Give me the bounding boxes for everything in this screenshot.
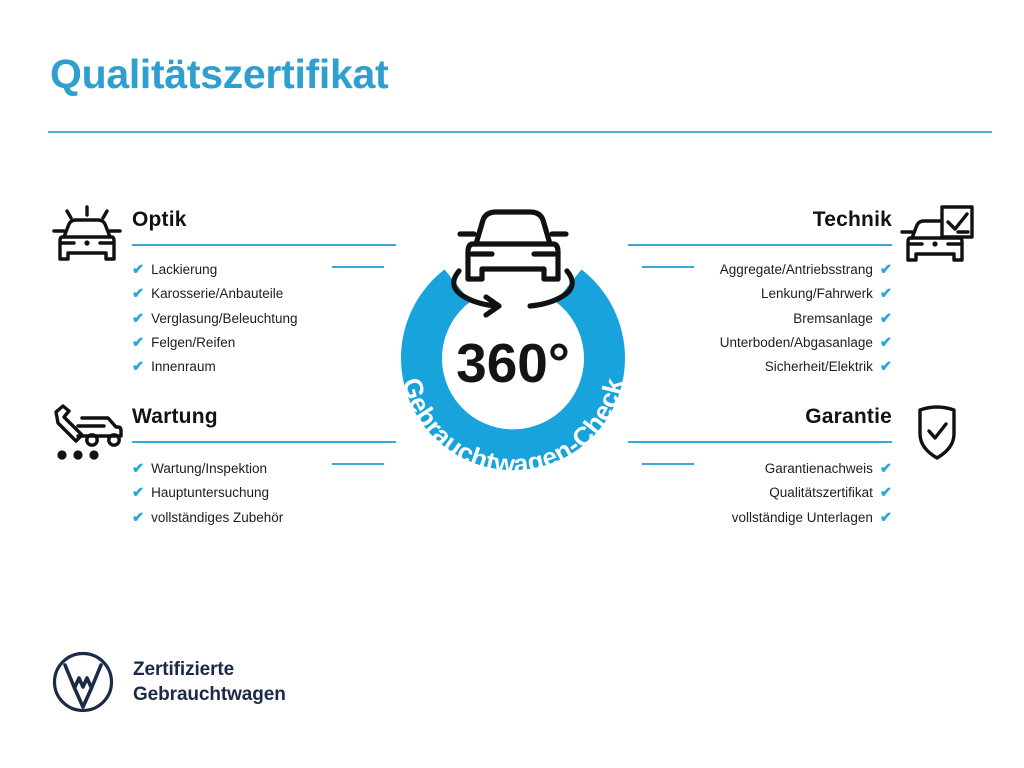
section-garantie: Garantie Garantienachweis✔ Qualitätszert… [628, 402, 976, 530]
check-icon: ✔ [132, 359, 144, 375]
check-icon: ✔ [880, 359, 892, 375]
list-item-label: Innenraum [151, 359, 216, 374]
list-item-label: vollständige Unterlagen [732, 510, 873, 525]
list-item: ✔Lackierung [132, 258, 396, 282]
check-icon: ✔ [880, 510, 892, 526]
section-optik: Optik ✔Lackierung ✔Karosserie/Anbauteile… [48, 205, 396, 379]
connector-line-bottom-left [332, 463, 384, 465]
footer-brand: Zertifizierte Gebrauchtwagen [52, 651, 286, 713]
list-item-label: Sicherheit/Elektrik [765, 359, 873, 374]
check-icon: ✔ [132, 461, 144, 477]
car-rotate-icon [454, 212, 573, 315]
vw-logo-icon [52, 651, 114, 713]
list-item: Aggregate/Antriebsstrang✔ [628, 258, 892, 282]
list-item: ✔vollständiges Zubehör [132, 506, 396, 530]
list-item-label: Qualitätszertifikat [769, 485, 873, 500]
check-icon: ✔ [132, 485, 144, 501]
section-wartung-list: ✔Wartung/Inspektion ✔Hauptuntersuchung ✔… [48, 457, 396, 530]
list-item-label: vollständiges Zubehör [151, 510, 283, 525]
connector-line-top-left [332, 266, 384, 268]
list-item: ✔Karosserie/Anbauteile [132, 282, 396, 306]
list-item: Unterboden/Abgasanlage✔ [628, 331, 892, 355]
page-title: Qualitätszertifikat [50, 52, 388, 97]
list-item-label: Karosserie/Anbauteile [151, 286, 283, 301]
list-item-label: Wartung/Inspektion [151, 461, 267, 476]
section-garantie-list: Garantienachweis✔ Qualitätszertifikat✔ v… [628, 457, 976, 530]
check-icon: ✔ [132, 510, 144, 526]
section-technik-list: Aggregate/Antriebsstrang✔ Lenkung/Fahrwe… [628, 258, 976, 379]
check-icon: ✔ [132, 262, 144, 278]
check-icon: ✔ [880, 461, 892, 477]
footer-line-2: Gebrauchtwagen [133, 682, 286, 707]
section-optik-header: Optik [48, 205, 396, 253]
connector-line-top-right [642, 266, 694, 268]
section-technik: Technik Aggregate/Antriebsstrang✔ Lenkun… [628, 205, 976, 379]
section-wartung-header: Wartung [48, 402, 396, 450]
list-item: ✔Hauptuntersuchung [132, 481, 396, 505]
list-item-label: Lackierung [151, 262, 217, 277]
car-service-tool-icon [48, 402, 126, 464]
list-item: Sicherheit/Elektrik✔ [628, 355, 892, 379]
list-item: ✔Felgen/Reifen [132, 331, 396, 355]
list-item-label: Bremsanlage [793, 311, 873, 326]
car-checkbox-icon [898, 205, 976, 267]
section-wartung-divider [132, 441, 396, 443]
check-icon: ✔ [880, 262, 892, 278]
check-icon: ✔ [880, 485, 892, 501]
title-divider [48, 131, 992, 133]
footer-line-1: Zertifizierte [133, 657, 286, 682]
check-icon: ✔ [132, 335, 144, 351]
list-item: Qualitätszertifikat✔ [628, 481, 892, 505]
footer-brand-text: Zertifizierte Gebrauchtwagen [133, 657, 286, 707]
list-item: ✔Wartung/Inspektion [132, 457, 396, 481]
check-icon: ✔ [132, 311, 144, 327]
list-item: vollständige Unterlagen✔ [628, 506, 892, 530]
check-icon: ✔ [880, 311, 892, 327]
list-item-label: Verglasung/Beleuchtung [151, 311, 297, 326]
section-optik-list: ✔Lackierung ✔Karosserie/Anbauteile ✔Verg… [48, 258, 396, 379]
connector-line-bottom-right [642, 463, 694, 465]
section-wartung: Wartung ✔Wartung/Inspektion ✔Hauptunters… [48, 402, 396, 530]
badge-center-text: 360° [456, 332, 570, 394]
car-shine-icon [48, 205, 126, 267]
list-item: ✔Innenraum [132, 355, 396, 379]
list-item: Bremsanlage✔ [628, 307, 892, 331]
list-item-label: Unterboden/Abgasanlage [720, 335, 873, 350]
list-item: Garantienachweis✔ [628, 457, 892, 481]
list-item: ✔Verglasung/Beleuchtung [132, 307, 396, 331]
section-technik-header: Technik [628, 205, 976, 253]
list-item-label: Aggregate/Antriebsstrang [720, 262, 873, 277]
check-icon: ✔ [880, 335, 892, 351]
section-technik-divider [628, 244, 892, 246]
check-icon: ✔ [880, 286, 892, 302]
section-garantie-header: Garantie [628, 402, 976, 450]
list-item-label: Felgen/Reifen [151, 335, 235, 350]
list-item-label: Garantienachweis [765, 461, 873, 476]
list-item: Lenkung/Fahrwerk✔ [628, 282, 892, 306]
section-optik-divider [132, 244, 396, 246]
gebrauchtwagen-check-badge: Gebrauchtwagen-Check 360° [378, 196, 648, 496]
list-item-label: Hauptuntersuchung [151, 485, 269, 500]
list-item-label: Lenkung/Fahrwerk [761, 286, 873, 301]
section-garantie-divider [628, 441, 892, 443]
shield-check-icon [898, 402, 976, 464]
check-icon: ✔ [132, 286, 144, 302]
